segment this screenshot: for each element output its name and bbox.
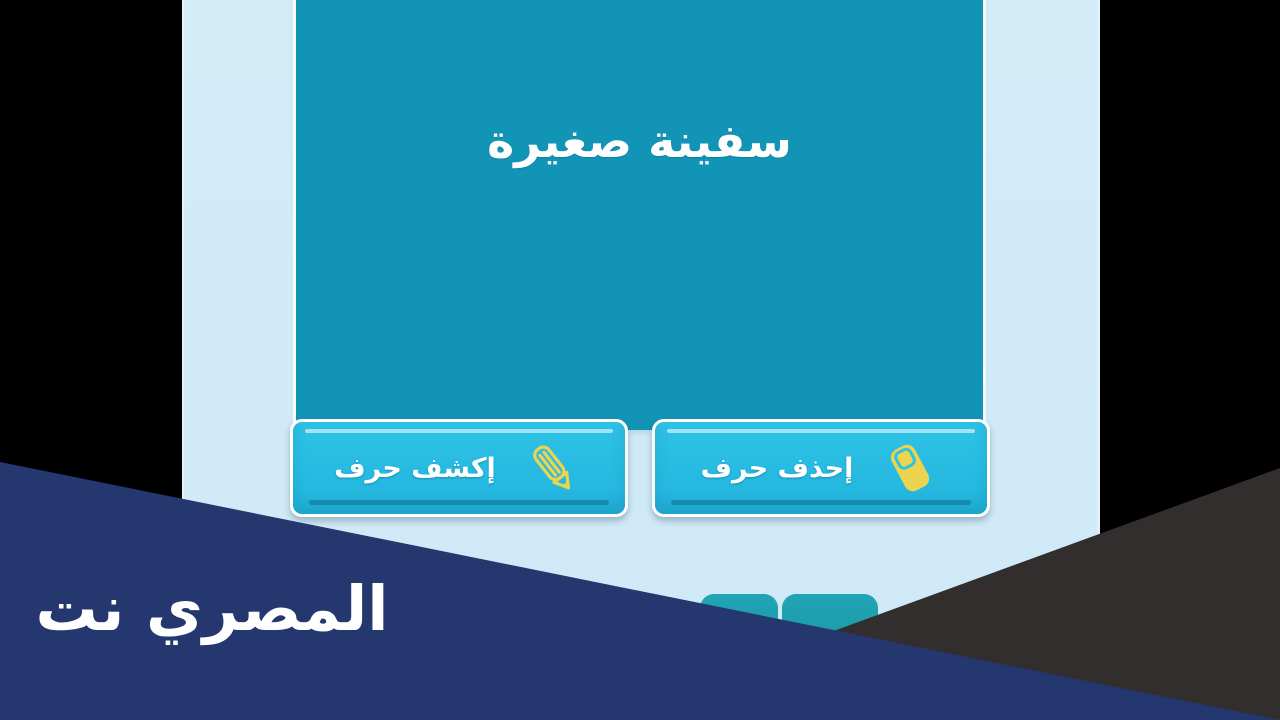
reveal-letter-button[interactable]: إكشف حرف xyxy=(290,419,628,517)
button-top-highlight xyxy=(667,429,975,433)
eraser-icon xyxy=(879,437,941,499)
puzzle-word-card: سفينة صغيرة xyxy=(296,0,983,430)
reveal-letter-label: إكشف حرف xyxy=(334,453,496,484)
delete-letter-button[interactable]: إحذف حرف xyxy=(652,419,990,517)
puzzle-word-text: سفينة صغيرة xyxy=(296,114,983,168)
screenshot-root: سفينة صغيرة إ xyxy=(0,0,1280,720)
pencil-icon xyxy=(522,437,584,499)
watermark-text: المصري نت xyxy=(12,578,412,640)
delete-letter-label: إحذف حرف xyxy=(701,453,854,484)
button-top-highlight xyxy=(305,429,613,433)
button-bottom-shadow xyxy=(671,500,971,505)
action-buttons-row: إكشف حرف إحذف حرف xyxy=(290,419,990,524)
button-bottom-shadow xyxy=(309,500,609,505)
